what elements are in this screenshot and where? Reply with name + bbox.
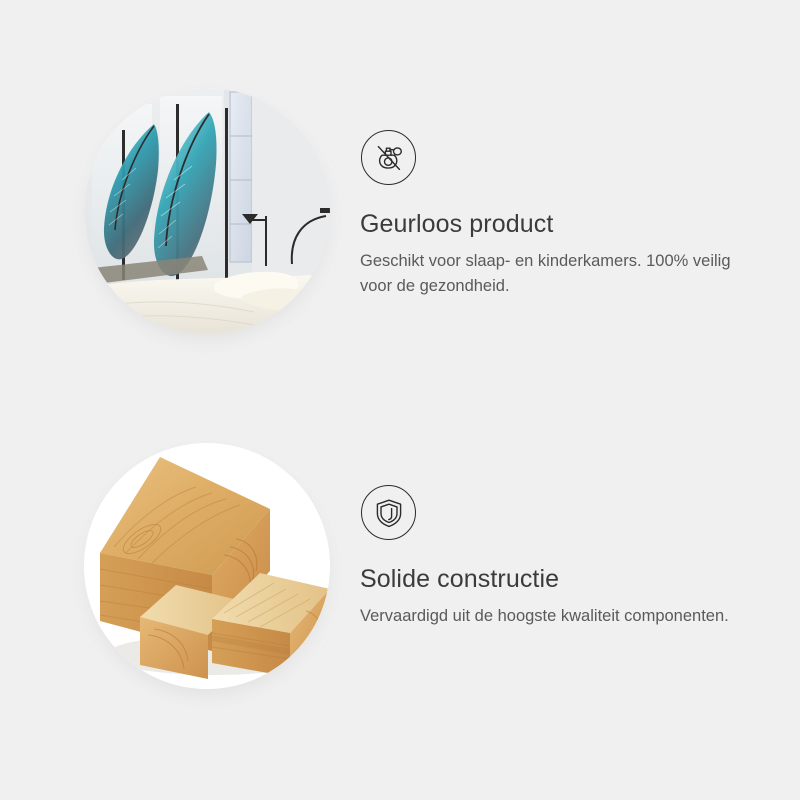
shield-icon xyxy=(361,485,416,540)
circular-photo-frame xyxy=(84,443,330,689)
feature-image-bedroom xyxy=(84,88,330,334)
bedroom-feather-wall-art-photo xyxy=(84,88,330,334)
feature-description: Geschikt voor slaap- en kinderkamers. 10… xyxy=(360,249,745,299)
product-features-page: Geurloos product Geschikt voor slaap- en… xyxy=(0,0,800,800)
wooden-beams-photo xyxy=(84,443,330,689)
no-fragrance-icon xyxy=(361,130,416,185)
feature-image-wood xyxy=(84,443,330,689)
feature-description: Vervaardigd uit de hoogste kwaliteit com… xyxy=(360,604,745,629)
shield-glyph xyxy=(372,496,406,530)
feature-title: Solide constructie xyxy=(360,564,760,594)
feature-title: Geurloos product xyxy=(360,209,760,239)
no-fragrance-glyph xyxy=(372,141,406,175)
feature-block-odourless: Geurloos product Geschikt voor slaap- en… xyxy=(0,0,800,400)
feature-content-solid-construction: Solide constructie Vervaardigd uit de ho… xyxy=(360,485,760,629)
feature-block-solid-construction: Solide constructie Vervaardigd uit de ho… xyxy=(0,355,800,755)
circular-photo-frame xyxy=(84,88,330,334)
feature-content-odourless: Geurloos product Geschikt voor slaap- en… xyxy=(360,130,760,299)
